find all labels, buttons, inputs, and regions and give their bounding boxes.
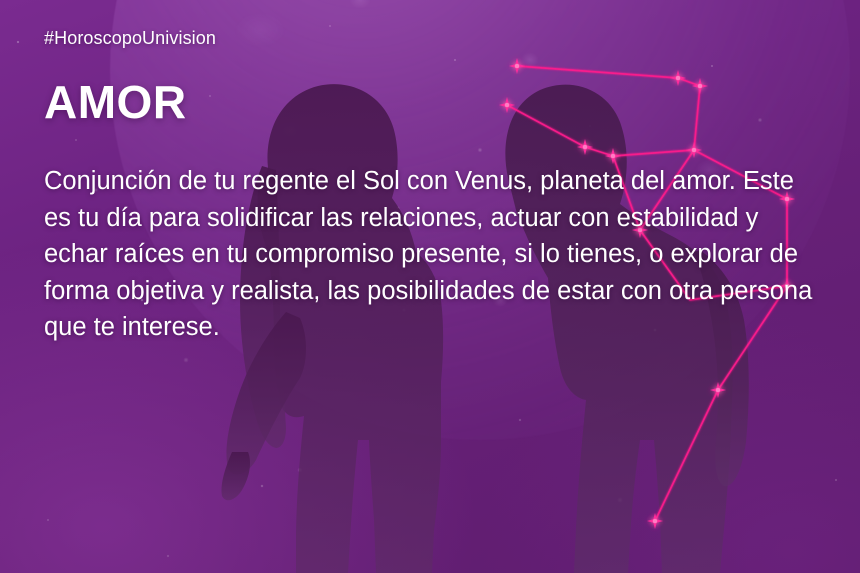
card-content: #HoroscopoUnivision AMOR Conjunción de t… [0,0,860,573]
hashtag-label: #HoroscopoUnivision [44,28,816,49]
page-title: AMOR [44,79,816,125]
horoscope-body-text: Conjunción de tu regente el Sol con Venu… [44,163,816,346]
horoscope-card: #HoroscopoUnivision AMOR Conjunción de t… [0,0,860,573]
